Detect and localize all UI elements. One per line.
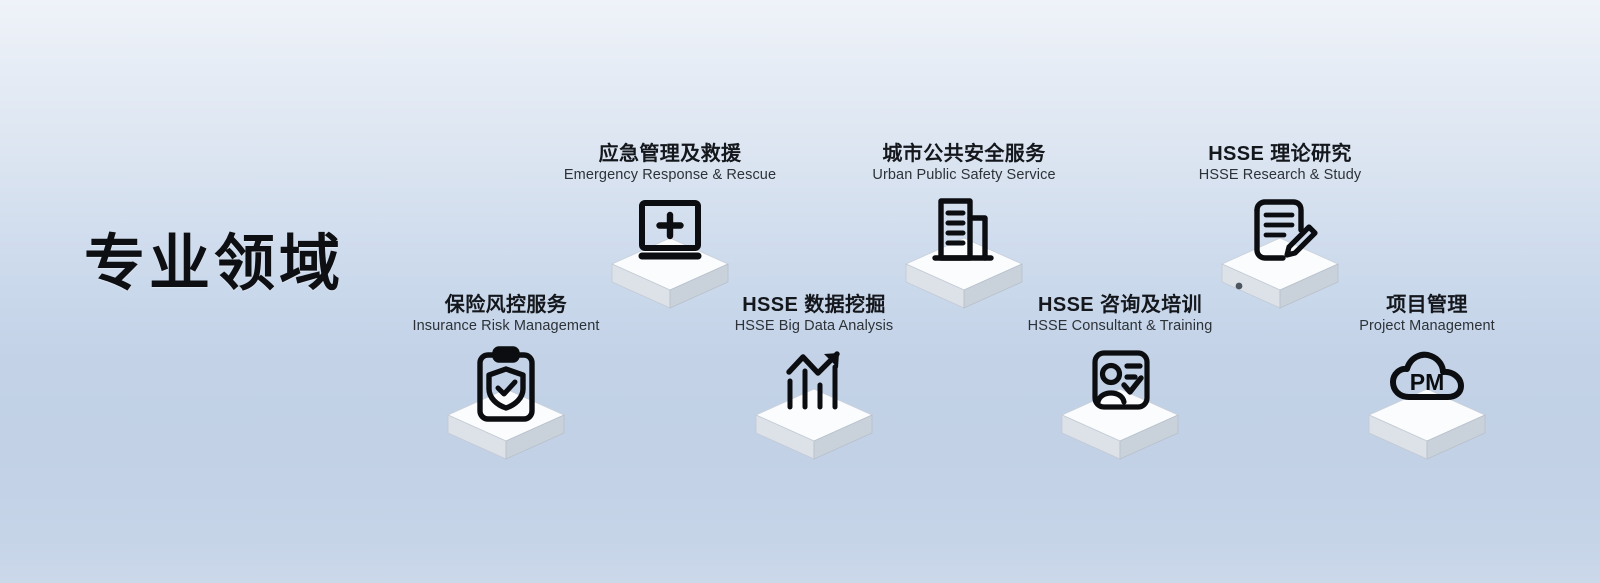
icon-block — [664, 345, 964, 465]
id-card-person-check-icon — [1077, 345, 1163, 431]
first-aid-monitor-plus-icon — [627, 194, 713, 280]
card-title-zh: 应急管理及救援 — [520, 143, 820, 165]
card-project-management[interactable]: 项目管理 Project Management PM — [1277, 294, 1577, 465]
card-hsse-consultant-training[interactable]: HSSE 咨询及培训 HSSE Consultant & Training — [970, 294, 1270, 465]
clipboard-shield-check-icon — [463, 345, 549, 431]
card-title-zh: 城市公共安全服务 — [814, 143, 1114, 165]
city-buildings-icon — [921, 194, 1007, 280]
card-title-en: Emergency Response & Rescue — [520, 168, 820, 184]
bar-chart-trend-up-icon — [771, 345, 857, 431]
document-pencil-icon — [1237, 194, 1323, 280]
icon-block — [356, 345, 656, 465]
card-hsse-big-data-analysis[interactable]: HSSE 数据挖掘 HSSE Big Data Analysis — [664, 294, 964, 465]
card-urban-public-safety-service[interactable]: 城市公共安全服务 Urban Public Safety Service — [814, 143, 1114, 314]
card-title-en: Insurance Risk Management — [356, 319, 656, 335]
card-hsse-research-study[interactable]: HSSE 理论研究 HSSE Research & Study — [1130, 143, 1430, 314]
icon-block — [970, 345, 1270, 465]
card-title-zh: 项目管理 — [1277, 294, 1577, 316]
card-title-zh: HSSE 理论研究 — [1130, 143, 1430, 165]
card-insurance-risk-management[interactable]: 保险风控服务 Insurance Risk Management — [356, 294, 656, 465]
card-title-en: Urban Public Safety Service — [814, 168, 1114, 184]
icon-block: PM — [1277, 345, 1577, 465]
page-title: 专业领域 — [84, 228, 344, 298]
card-emergency-response-rescue[interactable]: 应急管理及救援 Emergency Response & Rescue — [520, 143, 820, 314]
cloud-pm-label: PM — [1410, 369, 1445, 395]
cloud-pm-icon: PM — [1384, 345, 1470, 431]
card-title-en: HSSE Big Data Analysis — [664, 319, 964, 335]
card-title-en: Project Management — [1277, 319, 1577, 335]
card-title-en: HSSE Research & Study — [1130, 168, 1430, 184]
professional-fields-banner: 专业领域 保险风控服务 Insurance Risk Management — [0, 0, 1600, 583]
card-title-en: HSSE Consultant & Training — [970, 319, 1270, 335]
